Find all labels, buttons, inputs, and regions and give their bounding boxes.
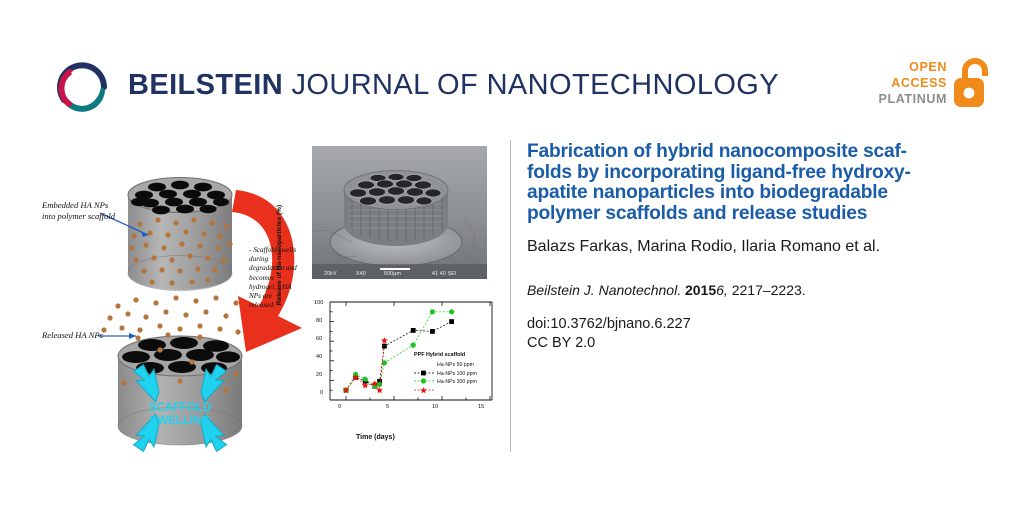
page-header: BEILSTEIN JOURNAL OF NANOTECHNOLOGY OPEN… <box>0 0 1024 130</box>
wordmark-beilstein: BEILSTEIN <box>128 69 283 101</box>
article-doi: doi:10.3762/bjnano.6.227 <box>527 315 977 334</box>
chart-legend: PPF Hybrid scaffold Ha-NPs 50 ppm Ha-NPs… <box>414 352 477 388</box>
released-nanoparticles-cloud <box>101 295 254 334</box>
article-license: CC BY 2.0 <box>527 334 977 353</box>
wordmark-journal-of-nanotechnology: JOURNAL OF NANOTECHNOLOGY <box>283 69 779 101</box>
chart-y-axis-label: Release of Ha-nanoparticles (%) <box>276 200 283 310</box>
open-access-text: OPEN ACCESS PLATINUM <box>879 59 947 107</box>
swelling-label-line-1: SCAFFOLD <box>149 402 212 414</box>
open-access-line-access: ACCESS <box>879 75 947 91</box>
citation-volume: 6, <box>716 282 728 298</box>
legend-item-300ppm: Ha-NPs 300 ppm <box>414 379 477 385</box>
legend-label-50ppm: Ha-NPs 50 ppm <box>437 362 474 368</box>
panel-divider <box>510 140 511 452</box>
open-access-line-platinum: PLATINUM <box>879 91 947 107</box>
article-title-line-4: polymer scaffolds and release studies <box>527 204 977 225</box>
legend-key-50ppm <box>414 363 434 368</box>
open-lock-icon <box>952 57 994 109</box>
article-authors: Balazs Farkas, Marina Rodio, Ilaria Roma… <box>527 238 977 256</box>
bottom-scaffold-cylinder: SCAFFOLD SWELLING <box>118 332 242 452</box>
release-chart: Release of Ha-nanoparticles (%) Time (da… <box>302 290 502 442</box>
article-title: Fabrication of hybrid nanocomposite scaf… <box>527 142 977 224</box>
legend-label-100ppm: Ha-NPs 100 ppm <box>437 371 477 377</box>
sem-voltage-label: 20kV <box>324 271 337 277</box>
article-info-panel: Fabrication of hybrid nanocomposite scaf… <box>527 142 977 353</box>
sem-detector-label: 41 40 SEI <box>432 271 457 277</box>
chart-legend-title: PPF Hybrid scaffold <box>414 352 477 358</box>
swelling-label-line-2: SWELLING <box>150 415 211 427</box>
legend-key-100ppm <box>414 371 434 376</box>
embedded-ha-nps-label-line-2: into polymer scaffold <box>42 211 115 222</box>
legend-item-50ppm: Ha-NPs 50 ppm <box>414 362 477 368</box>
degradation-note: - Scaffold swells during degradation and… <box>249 246 297 310</box>
legend-label-300ppm: Ha-NPs 300 ppm <box>437 379 477 385</box>
graphical-abstract: SCAFFOLD SWELLING Embedded HA NPs into p… <box>40 138 500 453</box>
citation-year: 2015 <box>685 282 716 298</box>
sem-scale-bar <box>380 268 410 271</box>
open-access-line-open: OPEN <box>879 59 947 75</box>
article-title-line-1: Fabrication of hybrid nanocomposite scaf… <box>527 142 977 163</box>
legend-key-300ppm <box>414 380 434 385</box>
article-title-line-2: folds by incorporating ligand-free hydro… <box>527 163 977 184</box>
legend-item-100ppm: Ha-NPs 100 ppm <box>414 371 477 377</box>
article-title-line-3: apatite nanoparticles into biodegradable <box>527 183 977 204</box>
open-access-badge: OPEN ACCESS PLATINUM <box>884 57 994 117</box>
journal-wordmark: BEILSTEIN JOURNAL OF NANOTECHNOLOGY <box>128 69 779 102</box>
beilstein-swirl-logo-icon <box>52 56 114 118</box>
embedded-ha-nps-label-line-1: Embedded HA NPs <box>42 200 108 211</box>
citation-pages: 2217–2223. <box>732 282 806 298</box>
sem-micrograph: 20kV X40 500µm 41 40 SEI <box>312 146 487 279</box>
article-citation: Beilstein J. Nanotechnol. 20156, 2217–22… <box>527 282 977 298</box>
citation-journal: Beilstein J. Nanotechnol. <box>527 282 681 298</box>
sem-magnification-label: X40 <box>356 271 366 277</box>
journal-cover-page: BEILSTEIN JOURNAL OF NANOTECHNOLOGY OPEN… <box>0 0 1024 512</box>
released-ha-nps-label: Released HA NPs <box>42 330 103 341</box>
sem-scale-label: 500µm <box>384 271 401 277</box>
